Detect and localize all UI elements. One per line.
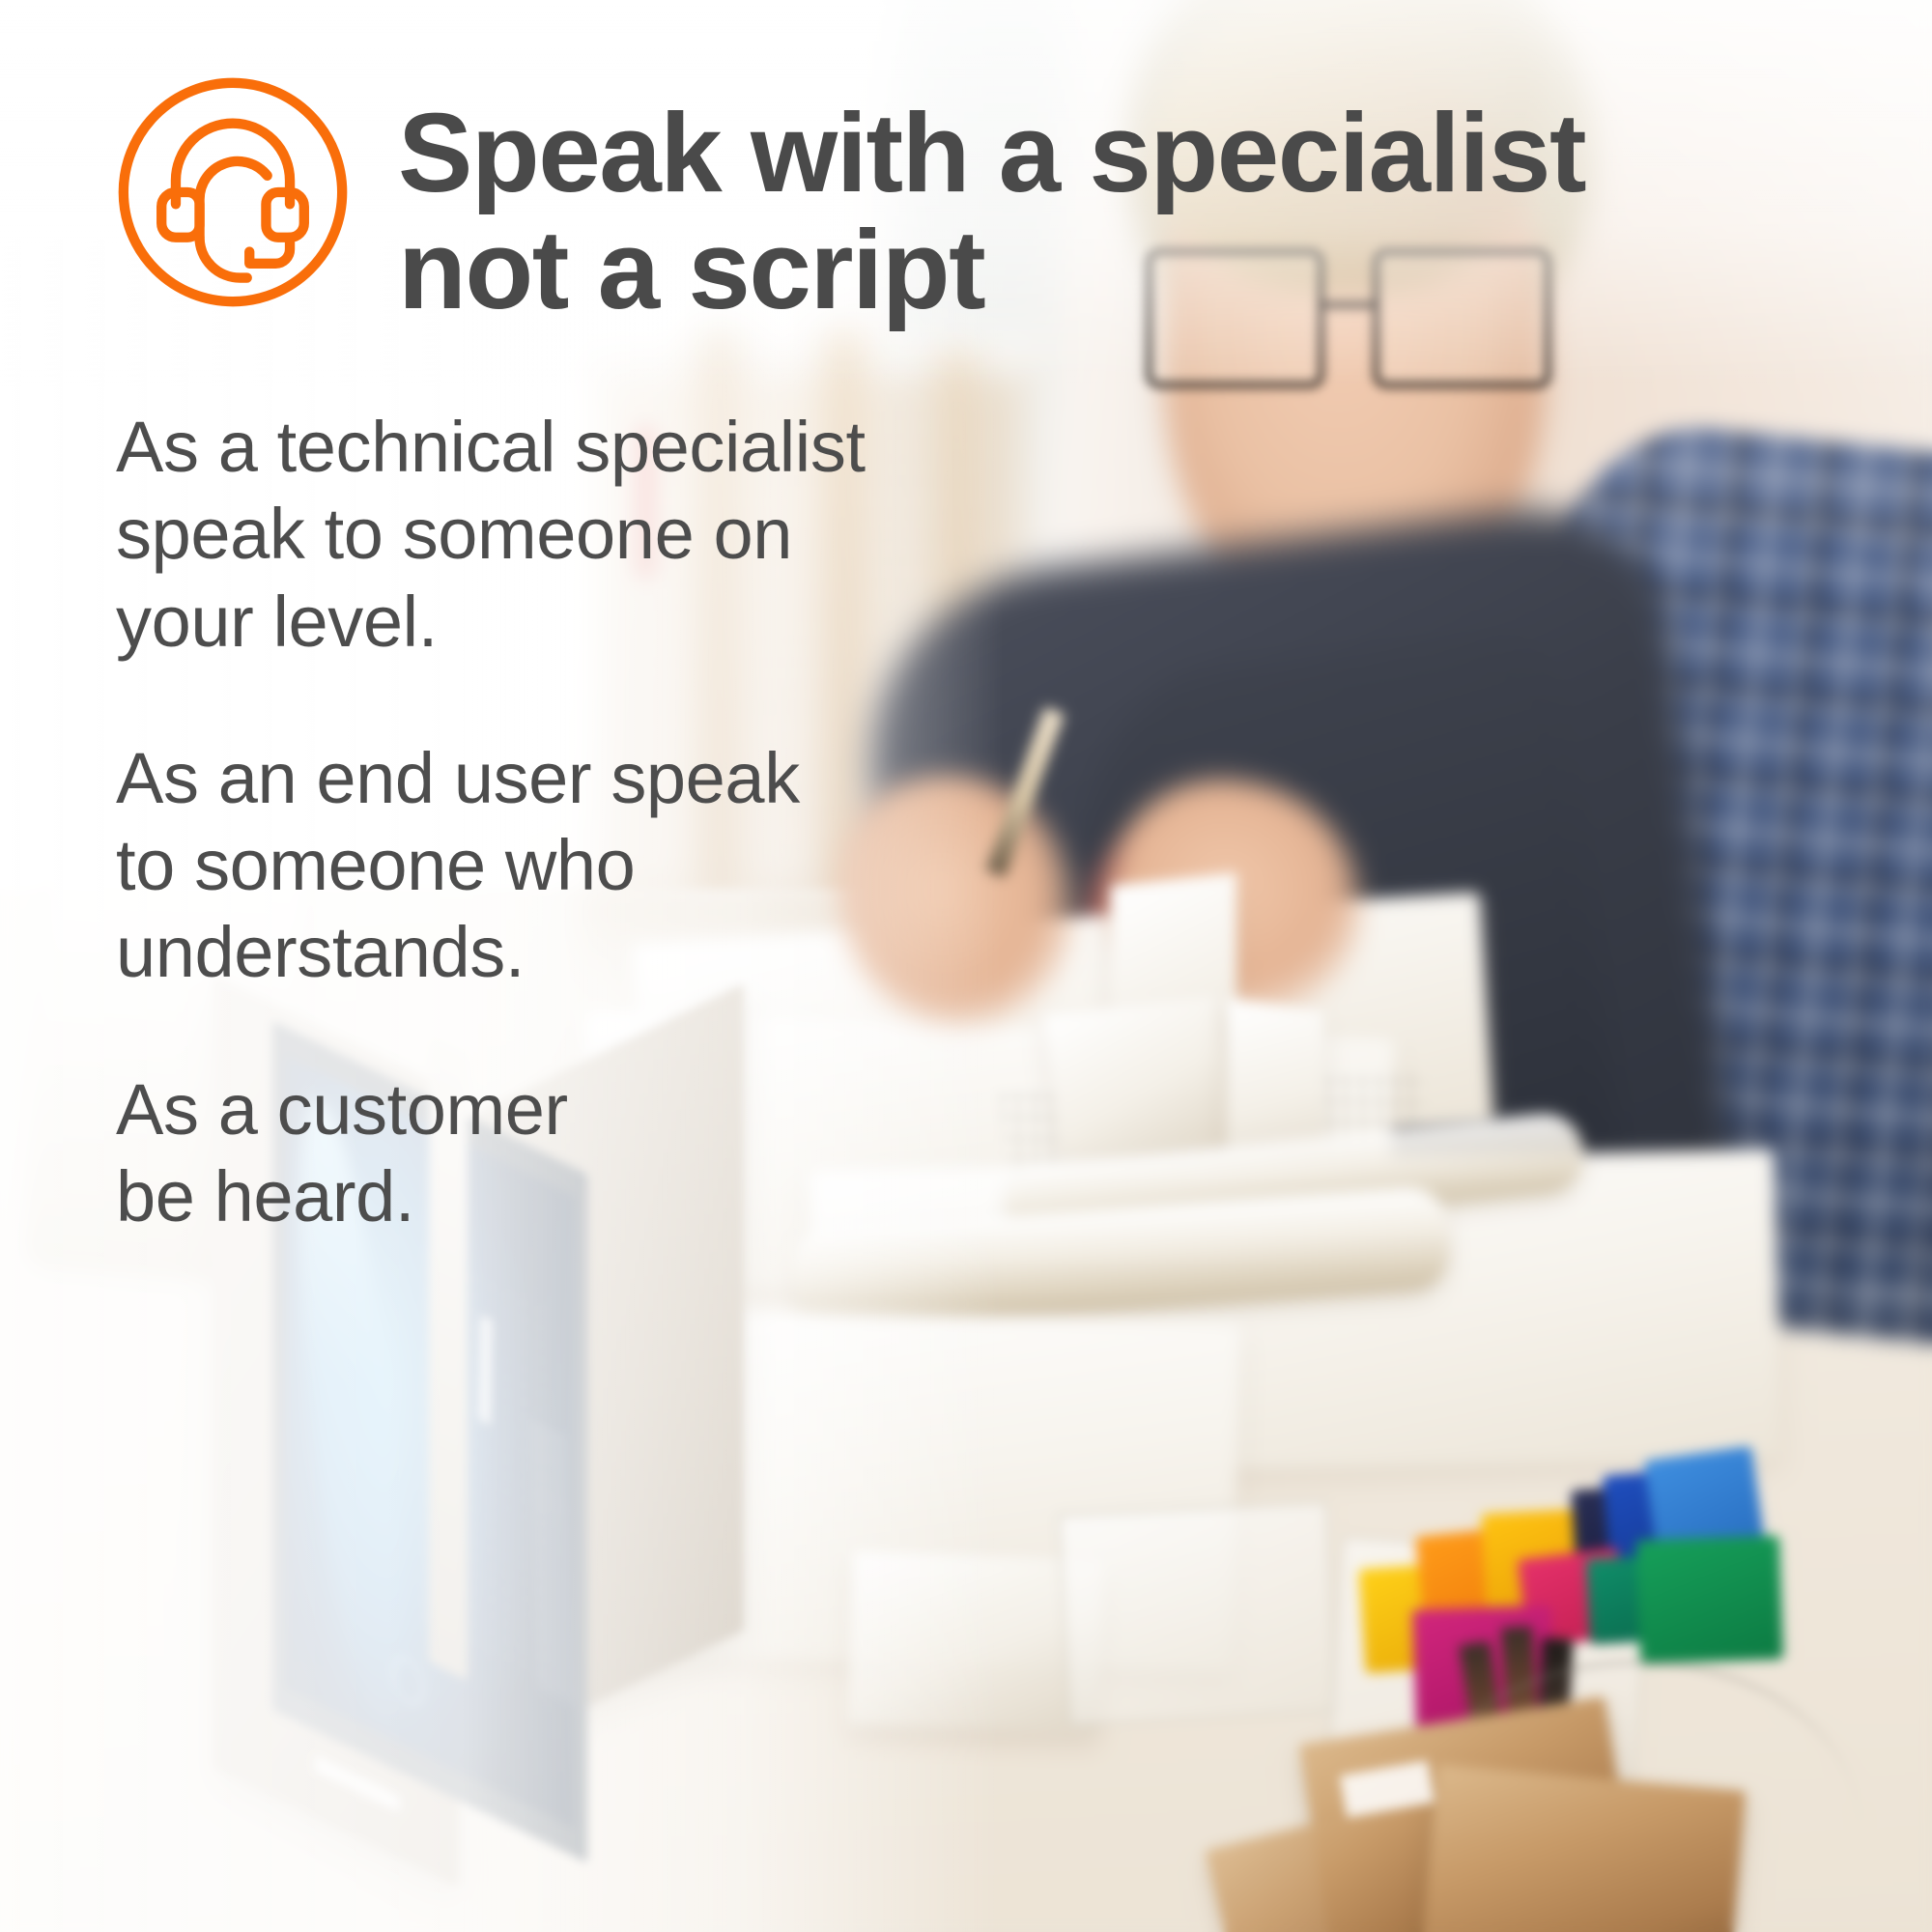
headset-support-icon [114,73,352,311]
poster-header: Speak with a specialist not a script [114,73,1585,327]
headset-operator-chin [200,238,247,278]
icon-outer-circle [124,83,342,301]
body-copy: As a technical specialist speak to someo… [116,404,947,1240]
paragraph-customer: As a customer be heard. [116,1066,947,1241]
paragraph-technical-specialist: As a technical specialist speak to someo… [116,404,947,666]
poster-canvas: Speak with a specialist not a script As … [0,0,1932,1932]
paragraph-end-user: As an end user speak to someone who unde… [116,735,947,997]
headset-operator-head [200,161,268,238]
page-title: Speak with a specialist not a script [398,73,1585,327]
poster-content: Speak with a specialist not a script As … [0,0,1932,1932]
